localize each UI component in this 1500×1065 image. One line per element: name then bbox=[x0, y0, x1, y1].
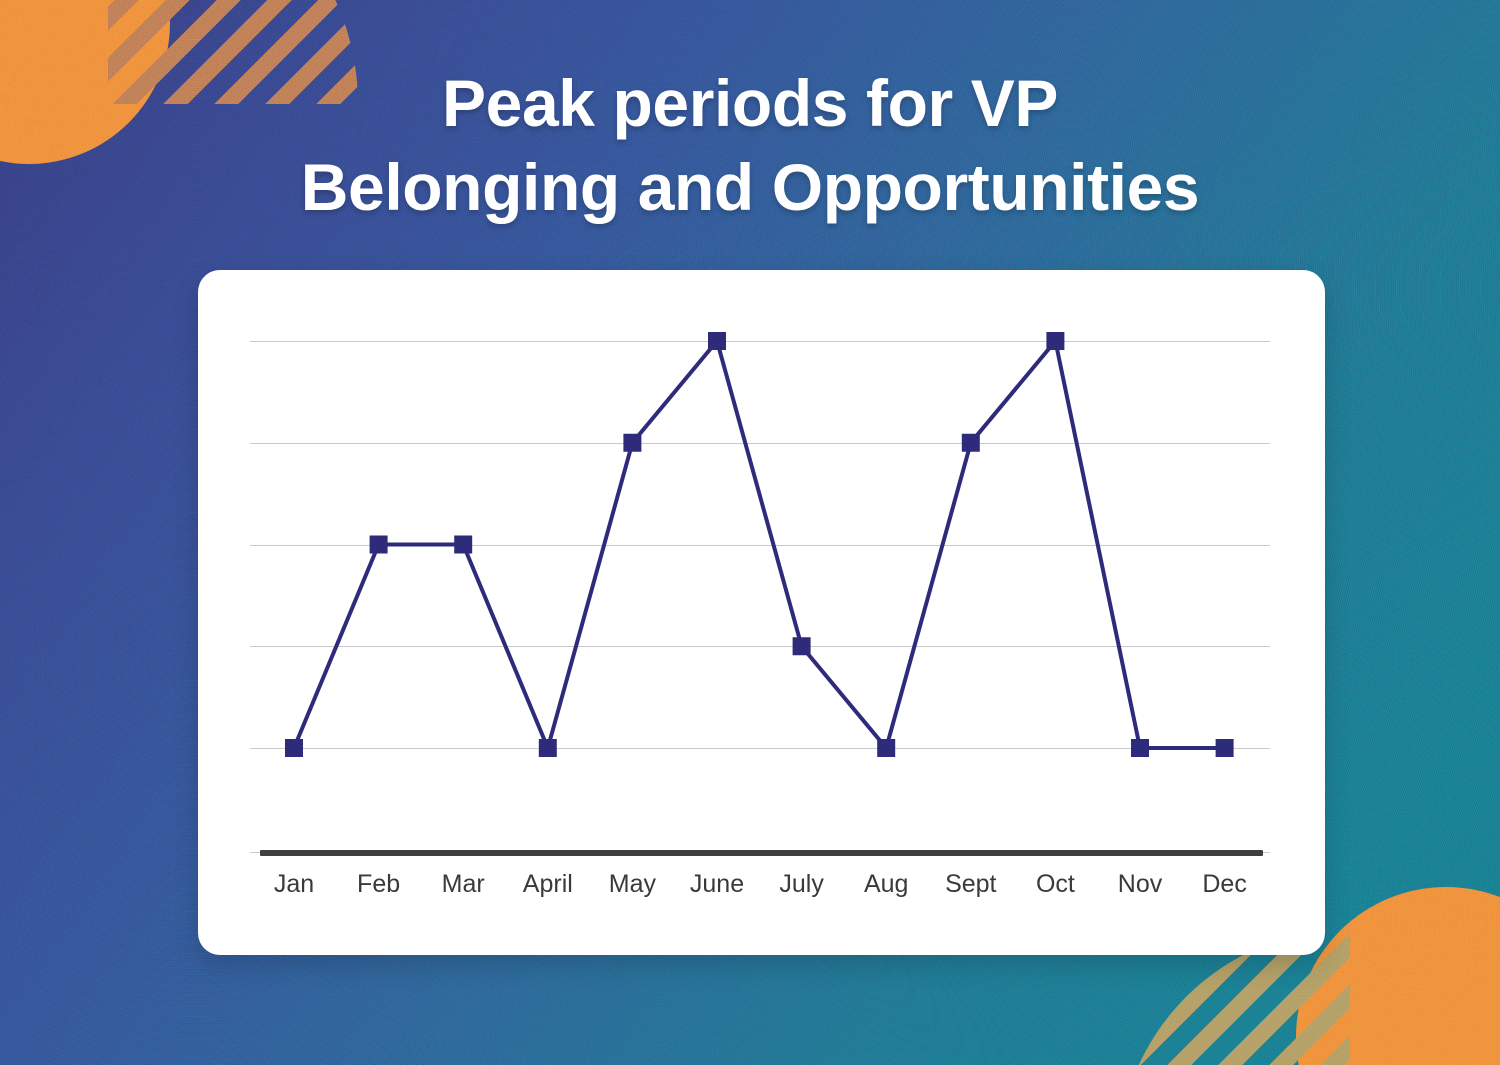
line-chart: JanFebMarAprilMayJuneJulyAugSeptOctNovDe… bbox=[198, 270, 1325, 955]
x-axis-tick-label-jan: Jan bbox=[274, 870, 314, 899]
data-point-marker[interactable] bbox=[708, 332, 726, 350]
x-axis-tick-label-july: July bbox=[779, 870, 823, 899]
x-axis-tick-label-dec: Dec bbox=[1202, 870, 1246, 899]
data-point-marker[interactable] bbox=[370, 536, 388, 554]
x-axis-tick-label-mar: Mar bbox=[442, 870, 485, 899]
x-axis-tick-labels: JanFebMarAprilMayJuneJulyAugSeptOctNovDe… bbox=[250, 870, 1270, 910]
series-line-vp-belonging bbox=[294, 341, 1225, 748]
data-point-marker[interactable] bbox=[877, 739, 895, 757]
data-point-marker[interactable] bbox=[962, 434, 980, 452]
x-axis-tick-label-aug: Aug bbox=[864, 870, 908, 899]
page-title-line-2: Belonging and Opportunities bbox=[0, 146, 1500, 230]
decorative-circle-bottom-right bbox=[1296, 887, 1500, 1065]
x-axis-tick-label-june: June bbox=[690, 870, 744, 899]
poster-canvas: Peak periods for VP Belonging and Opport… bbox=[0, 0, 1500, 1065]
x-axis-tick-label-feb: Feb bbox=[357, 870, 400, 899]
data-point-marker[interactable] bbox=[1131, 739, 1149, 757]
page-title: Peak periods for VP Belonging and Opport… bbox=[0, 62, 1500, 230]
data-point-marker[interactable] bbox=[454, 536, 472, 554]
x-axis-tick-label-may: May bbox=[609, 870, 656, 899]
x-axis-tick-label-nov: Nov bbox=[1118, 870, 1162, 899]
chart-card: JanFebMarAprilMayJuneJulyAugSeptOctNovDe… bbox=[198, 270, 1325, 955]
data-point-marker[interactable] bbox=[793, 637, 811, 655]
data-point-marker[interactable] bbox=[1216, 739, 1234, 757]
x-axis-tick-label-april: April bbox=[523, 870, 573, 899]
data-point-marker[interactable] bbox=[1046, 332, 1064, 350]
x-axis-line bbox=[260, 850, 1263, 856]
x-axis-tick-label-sept: Sept bbox=[945, 870, 996, 899]
data-point-marker[interactable] bbox=[623, 434, 641, 452]
data-point-marker[interactable] bbox=[285, 739, 303, 757]
x-axis-tick-label-oct: Oct bbox=[1036, 870, 1075, 899]
data-point-marker[interactable] bbox=[539, 739, 557, 757]
page-title-line-1: Peak periods for VP bbox=[0, 62, 1500, 146]
